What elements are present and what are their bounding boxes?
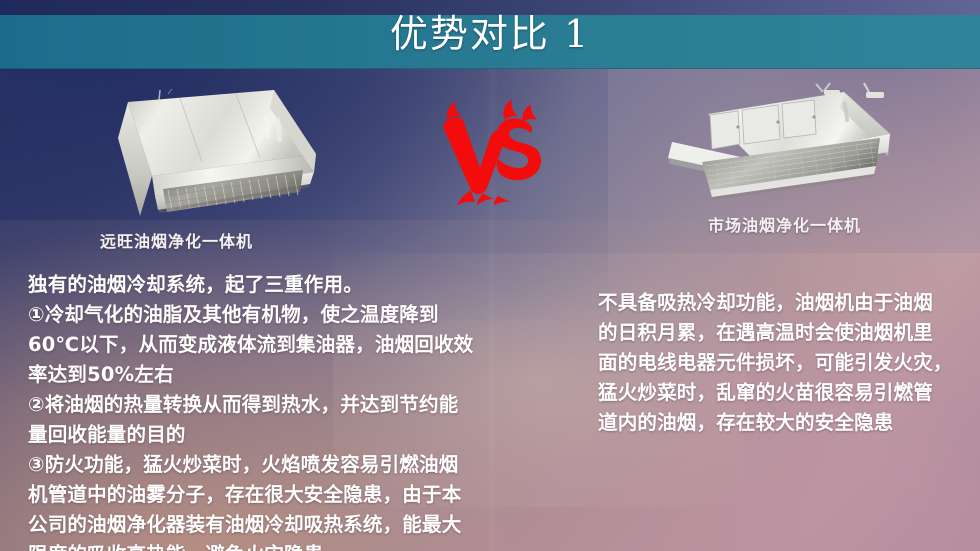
left-description-text: 独有的油烟冷却系统，起了三重作用。①冷却气化的油脂及其他有机物，使之温度降到60… xyxy=(28,270,506,551)
description-line: 限度的吸收高热能，避免火灾隐患 xyxy=(28,540,506,551)
description-line: 猛火炒菜时，乱窜的火苗很容易引燃管 xyxy=(598,378,956,408)
description-line: 机管道中的油雾分子，存在很大安全隐患，由于本 xyxy=(28,480,506,510)
right-product-caption: 市场油烟净化一体机 xyxy=(708,212,861,236)
flame-vs-icon xyxy=(443,98,549,206)
description-line: 60℃以下，从而变成液体流到集油器，油烟回收效 xyxy=(28,330,506,360)
description-line: ①冷却气化的油脂及其他有机物，使之温度降到 xyxy=(28,300,506,330)
description-line: 的日积月累，在遇高温时会使油烟机里 xyxy=(598,318,956,348)
description-line: 公司的油烟净化器装有油烟冷却吸热系统，能最大 xyxy=(28,510,506,540)
right-description-text: 不具备吸热冷却功能，油烟机由于油烟的日积月累，在遇高温时会使油烟机里面的电线电器… xyxy=(598,288,956,438)
description-line: ②将油烟的热量转换从而得到热水，并达到节约能 xyxy=(28,390,506,420)
description-line: 道内的油烟，存在较大的安全隐患 xyxy=(598,408,956,438)
description-line: 率达到50%左右 xyxy=(28,360,506,390)
description-line: 量回收能量的目的 xyxy=(28,420,506,450)
description-line: ③防火功能，猛火炒菜时，火焰喷发容易引燃油烟 xyxy=(28,450,506,480)
slide-header: 优势对比 1 xyxy=(0,0,980,69)
range-hood-icon-right xyxy=(658,82,920,204)
page-title: 优势对比 1 xyxy=(0,10,980,58)
left-product-caption: 远旺油烟净化一体机 xyxy=(100,228,253,252)
description-line: 独有的油烟冷却系统，起了三重作用。 xyxy=(28,270,506,300)
range-hood-icon-left xyxy=(60,88,340,223)
comparison-slide: 优势对比 1 xyxy=(0,0,980,551)
description-line: 面的电线电器元件损坏，可能引发火灾， xyxy=(598,348,956,378)
description-line: 不具备吸热冷却功能，油烟机由于油烟 xyxy=(598,288,956,318)
